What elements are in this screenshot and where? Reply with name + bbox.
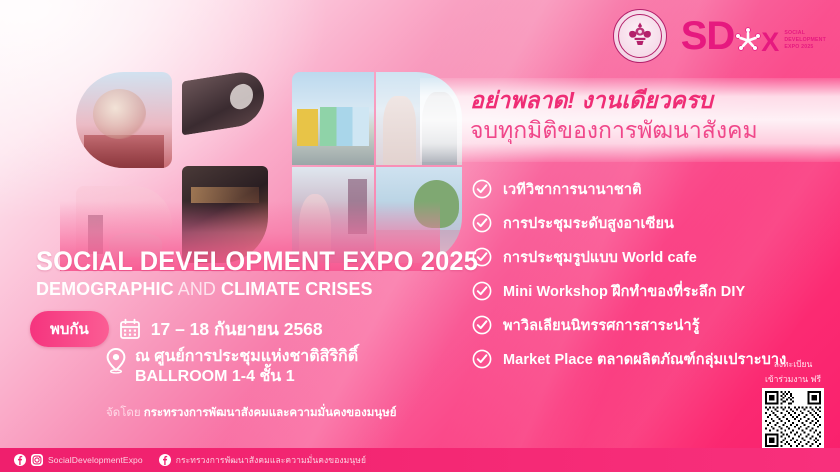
list-item-label: การประชุมระดับสูงอาเซียน — [503, 212, 674, 235]
check-circle-icon — [472, 315, 492, 335]
list-item: พาวิลเลียนนิทรรศการสาระน่ารู้ — [472, 308, 786, 342]
list-item-label: การประชุมรูปแบบ World cafe — [503, 246, 697, 269]
title-sub-bold-1: DEMOGRAPHIC — [36, 278, 174, 299]
headline-block: อย่าพลาด! งานเดียวครบ จบทุกมิติของการพัฒ… — [470, 86, 758, 146]
registration-qr-block[interactable]: ลงทะเบียน เข้าร่วมงาน ฟรี — [762, 359, 824, 450]
event-title-block: SOCIAL DEVELOPMENT EXPO 2025 DEMOGRAPHIC… — [36, 247, 506, 300]
event-date-row: พบกัน 17 – 18 กันยายน 2568 — [30, 311, 323, 347]
expo-banner: SD X SOCIAL DEVELOPMENT EXPO 2025 — [0, 0, 840, 472]
list-item: เวทีวิชาการนานาชาติ — [472, 172, 786, 206]
instagram-icon[interactable] — [31, 454, 43, 466]
organizer-name: กระทรวงการพัฒนาสังคมและความมั่นคงของมนุษ… — [144, 407, 397, 419]
list-item: การประชุมระดับสูงอาเซียน — [472, 206, 786, 240]
sdx-sub-line-2: DEVELOPMENT — [784, 37, 826, 44]
check-circle-icon — [472, 247, 492, 267]
photo-hands-dark — [182, 69, 264, 136]
facebook-icon[interactable] — [159, 454, 171, 466]
sd-photo-collage — [60, 58, 440, 263]
event-date: 17 – 18 กันยายน 2568 — [151, 315, 323, 343]
sdx-sub-line-1: SOCIAL — [784, 30, 826, 37]
check-circle-icon — [472, 179, 492, 199]
list-item: Market Place ตลาดผลิตภัณฑ์กลุ่มเปราะบาง — [472, 342, 786, 376]
list-item-label: Market Place ตลาดผลิตภัณฑ์กลุ่มเปราะบาง — [503, 348, 786, 371]
sdx-x-letter: X — [761, 29, 779, 56]
headline-line-2: จบทุกมิติของการพัฒนาสังคม — [470, 116, 758, 145]
sdx-subtitle: SOCIAL DEVELOPMENT EXPO 2025 — [784, 30, 826, 51]
event-venue-row: ณ ศูนย์การประชุมแห่งชาติสิริกิติ์ BALLRO… — [106, 347, 358, 387]
photo-elderly-person — [76, 72, 172, 168]
social-footer-bar: SocialDevelopmentExpo กระทรวงการพัฒนาสัง… — [0, 448, 840, 472]
social-handle-group[interactable]: SocialDevelopmentExpo — [14, 454, 143, 466]
qr-caption-line-1: ลงทะเบียน — [774, 359, 813, 370]
headline-line-1: อย่าพลาด! งานเดียวครบ — [470, 86, 758, 115]
sdx-burst-icon — [733, 25, 763, 55]
check-circle-icon — [472, 281, 492, 301]
seal-inner-ring — [618, 14, 662, 58]
ministry-page-group[interactable]: กระทรวงการพัฒนาสังคมและความมั่นคงของมนุษ… — [159, 453, 366, 467]
check-circle-icon — [472, 349, 492, 369]
royal-thai-government-seal-icon — [613, 9, 667, 63]
event-title-sub: DEMOGRAPHIC AND CLIMATE CRISES — [36, 277, 492, 300]
feature-list: เวทีวิชาการนานาชาติ การประชุมระดับสูงอาเ… — [472, 172, 786, 376]
organizer-prefix: จัดโดย — [106, 407, 144, 419]
check-circle-icon — [472, 213, 492, 233]
photo-colorful-street — [292, 72, 374, 165]
logo-row: SD X SOCIAL DEVELOPMENT EXPO 2025 — [613, 9, 826, 63]
title-sub-bold-2: CLIMATE CRISES — [221, 278, 373, 299]
calendar-icon — [119, 318, 141, 340]
list-item-label: เวทีวิชาการนานาชาติ — [503, 178, 642, 201]
event-title-main: SOCIAL DEVELOPMENT EXPO 2025 — [36, 247, 478, 275]
location-pin-icon — [106, 348, 126, 374]
sdx-logo: SD X SOCIAL DEVELOPMENT EXPO 2025 — [681, 17, 826, 55]
venue-line-1: ณ ศูนย์การประชุมแห่งชาติสิริกิติ์ — [135, 347, 358, 367]
venue-line-2: BALLROOM 1-4 ชั้น 1 — [135, 367, 358, 387]
qr-code-image[interactable] — [762, 388, 824, 450]
sdx-sub-line-3: EXPO 2025 — [784, 44, 826, 51]
sdx-letters: SD — [681, 17, 735, 55]
qr-caption-line-2: เข้าร่วมงาน ฟรี — [765, 374, 821, 385]
title-sub-and: AND — [174, 278, 221, 299]
meet-badge: พบกัน — [30, 311, 109, 347]
venue-lines: ณ ศูนย์การประชุมแห่งชาติสิริกิติ์ BALLRO… — [135, 347, 358, 387]
list-item-label: พาวิลเลียนนิทรรศการสาระน่ารู้ — [503, 314, 700, 337]
list-item-label: Mini Workshop ฝึกทำของที่ระลึก DIY — [503, 280, 745, 303]
facebook-icon[interactable] — [14, 454, 26, 466]
list-item: การประชุมรูปแบบ World cafe — [472, 240, 786, 274]
organizer-line: จัดโดย กระทรวงการพัฒนาสังคมและความมั่นคง… — [106, 404, 396, 422]
list-item: Mini Workshop ฝึกทำของที่ระลึก DIY — [472, 274, 786, 308]
ministry-page-text: กระทรวงการพัฒนาสังคมและความมั่นคงของมนุษ… — [176, 453, 366, 467]
social-handle-text: SocialDevelopmentExpo — [48, 455, 143, 465]
